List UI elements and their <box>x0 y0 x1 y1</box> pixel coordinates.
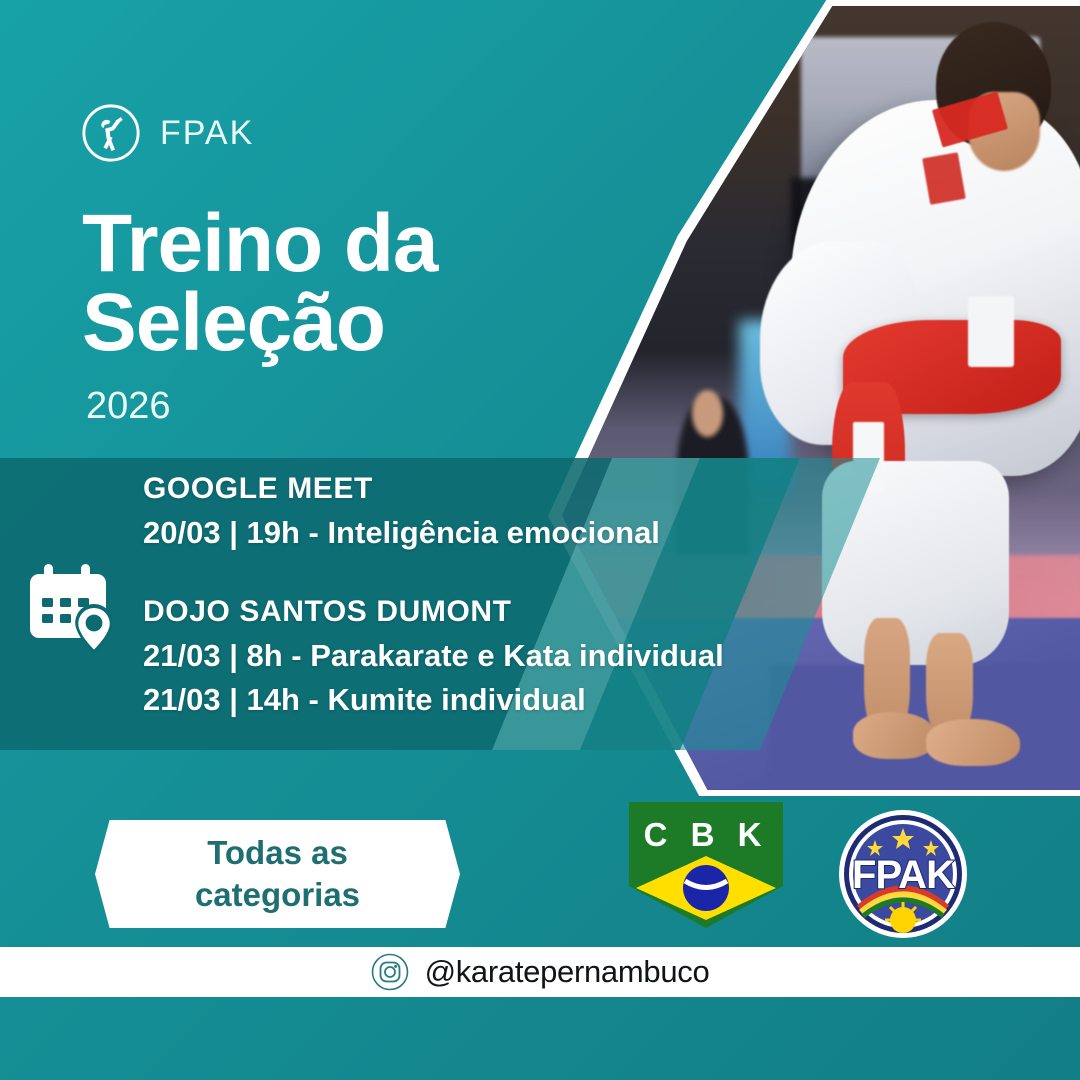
svg-text:FPAK: FPAK <box>852 853 955 897</box>
karate-kick-circle-icon <box>80 102 142 164</box>
categories-badge-text: Todas as categorias <box>195 832 360 916</box>
brand-name: FPAK <box>160 114 254 153</box>
instagram-icon[interactable] <box>371 953 409 991</box>
social-footer: @karatepernambuco <box>0 947 1080 997</box>
schedule-spacer <box>143 555 863 589</box>
svg-text:C B K: C B K <box>644 816 769 853</box>
brand-header: FPAK <box>80 102 254 164</box>
fpak-seal-logo: FPAK <box>825 808 981 940</box>
schedule-list: GOOGLE MEET 20/03 | 19h - Inteligência e… <box>143 466 863 722</box>
schedule-block-line: 20/03 | 19h - Inteligência emocional <box>143 511 863 555</box>
title-year: 2026 <box>86 385 171 428</box>
schedule-block-heading: GOOGLE MEET <box>143 466 863 511</box>
cbk-shield-logo: C B K <box>627 800 785 930</box>
schedule-block-line: 21/03 | 14h - Kumite individual <box>143 678 863 722</box>
schedule-block-line: 21/03 | 8h - Parakarate e Kata individua… <box>143 634 863 678</box>
title-line-1: Treino da <box>82 198 438 289</box>
schedule-block-heading: DOJO SANTOS DUMONT <box>143 589 863 634</box>
page-title: Treino da Seleção <box>82 205 552 362</box>
schedule-block: GOOGLE MEET 20/03 | 19h - Inteligência e… <box>143 466 863 555</box>
poster-root: FPAK Treino da Seleção 2026 <box>0 0 1080 1080</box>
calendar-location-icon <box>22 560 126 656</box>
instagram-handle[interactable]: @karatepernambuco <box>425 954 710 990</box>
categories-line-2: categorias <box>195 876 360 913</box>
categories-line-1: Todas as <box>207 834 348 871</box>
title-line-2: Seleção <box>82 284 552 363</box>
schedule-block: DOJO SANTOS DUMONT 21/03 | 8h - Parakara… <box>143 589 863 722</box>
categories-badge: Todas as categorias <box>95 820 460 928</box>
